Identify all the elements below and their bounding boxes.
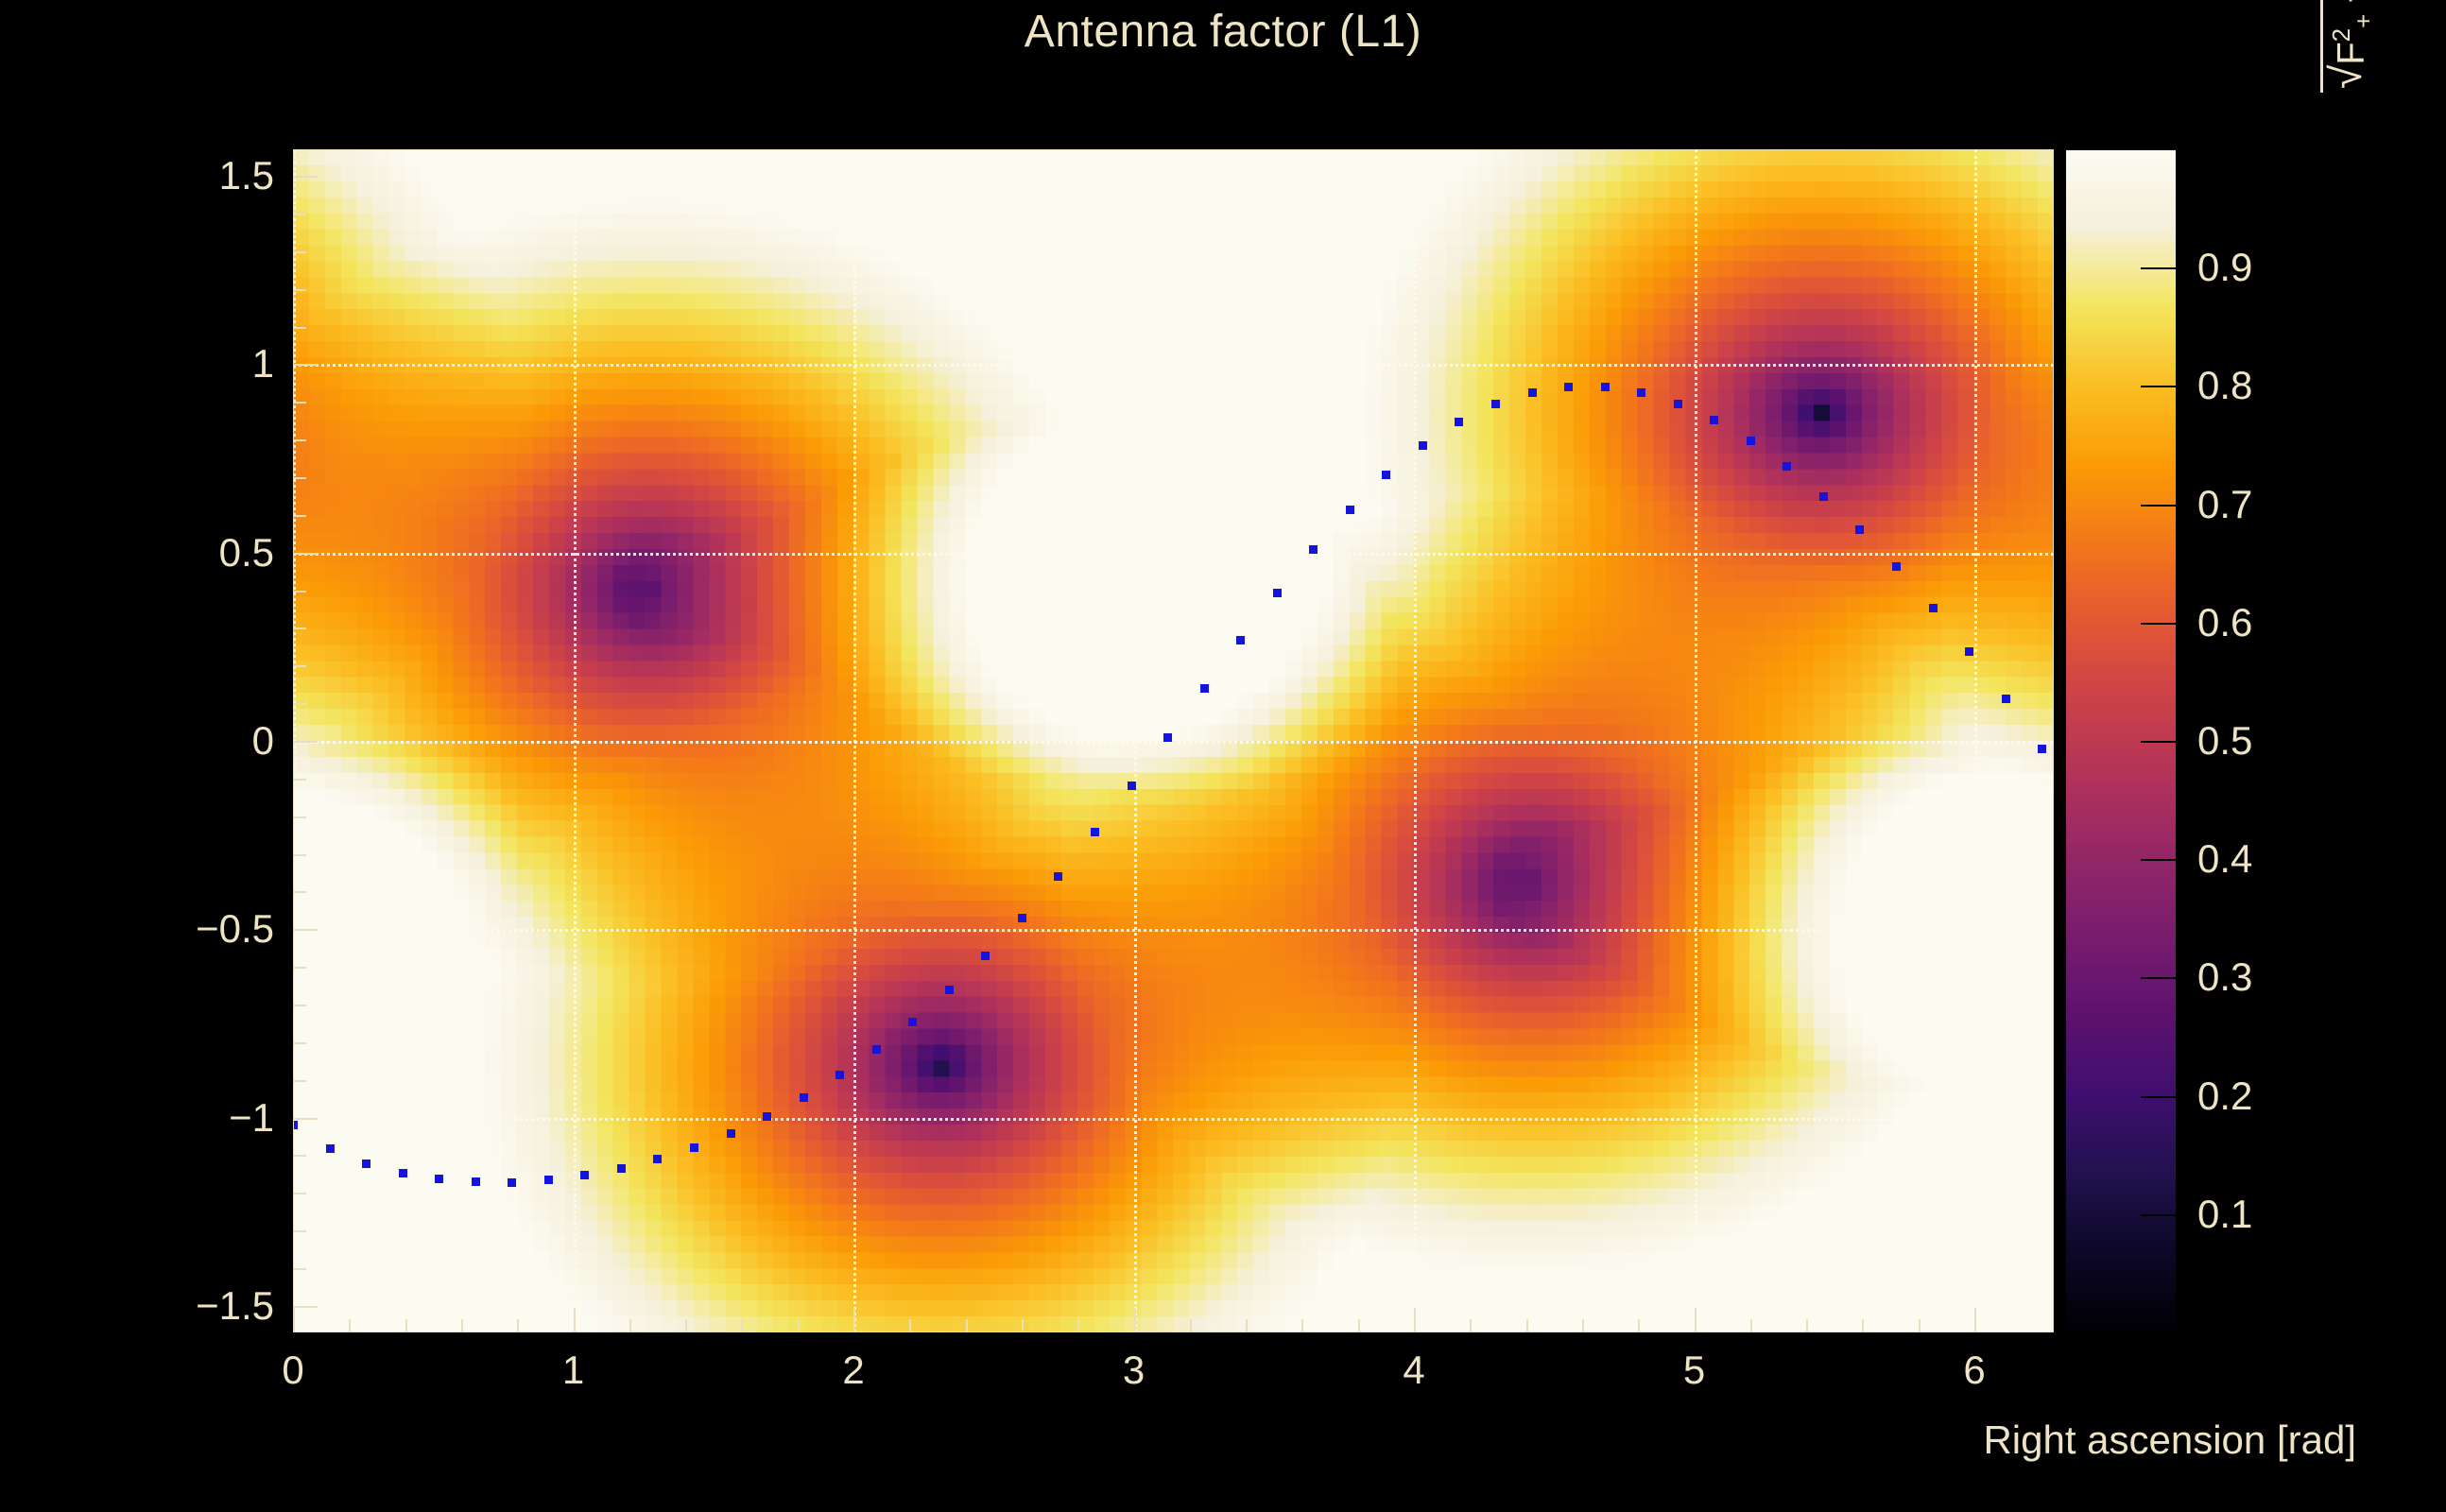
x-tick-6 <box>1974 1308 1976 1332</box>
x-minor-tick <box>1470 1319 1472 1332</box>
x-tick-label-4: 4 <box>1403 1348 1424 1393</box>
z-tick-8 <box>2141 1214 2177 1216</box>
page-title: Antenna factor (L1) <box>0 6 2446 58</box>
x-tick-label-3: 3 <box>1123 1348 1145 1393</box>
z-tick-4 <box>2141 741 2177 743</box>
y-minor-tick <box>293 1042 306 1044</box>
y-tick-3 <box>293 741 318 743</box>
y-minor-tick <box>293 251 306 253</box>
x-minor-tick <box>1919 1319 1921 1332</box>
radical-icon: √ <box>2329 65 2364 89</box>
x-minor-tick <box>1301 1319 1303 1332</box>
x-minor-tick <box>685 1319 687 1332</box>
y-minor-tick <box>293 891 306 893</box>
x-tick-label-6: 6 <box>1963 1348 1985 1393</box>
y-tick-label-0: 1.5 <box>170 153 274 198</box>
x-minor-tick <box>461 1319 463 1332</box>
x-minor-tick <box>1638 1319 1640 1332</box>
z-tick-5 <box>2141 859 2177 861</box>
x-minor-tick <box>1582 1319 1584 1332</box>
y-tick-5 <box>293 1118 318 1120</box>
x-tick-label-1: 1 <box>562 1348 584 1393</box>
colorbar-title: √F2+ + F2x <box>2320 0 2378 94</box>
x-minor-tick <box>517 1319 519 1332</box>
z-tick-6 <box>2141 977 2177 979</box>
y-minor-tick <box>293 779 306 781</box>
z-tick-label-3: 0.6 <box>2197 600 2252 645</box>
y-minor-tick <box>293 214 306 215</box>
y-minor-tick <box>293 1155 306 1157</box>
x-minor-tick <box>1526 1319 1528 1332</box>
x-axis-title: Right ascension [rad] <box>1983 1417 2356 1463</box>
y-minor-tick <box>293 402 306 404</box>
y-minor-tick <box>293 665 306 667</box>
x-tick-label-5: 5 <box>1683 1348 1705 1393</box>
y-tick-2 <box>293 553 318 555</box>
x-minor-tick <box>1862 1319 1864 1332</box>
x-minor-tick <box>1077 1319 1079 1332</box>
z-tick-label-4: 0.5 <box>2197 718 2252 764</box>
z-tick-label-5: 0.4 <box>2197 836 2252 882</box>
y-minor-tick <box>293 1080 306 1082</box>
x-minor-tick <box>1022 1319 1024 1332</box>
y-minor-tick <box>293 1268 306 1270</box>
y-tick-6 <box>293 1306 318 1308</box>
heatmap-image <box>293 149 2054 1332</box>
x-minor-tick <box>1750 1319 1752 1332</box>
y-minor-tick <box>293 515 306 517</box>
y-tick-label-6: −1.5 <box>170 1283 274 1329</box>
y-tick-0 <box>293 176 318 178</box>
z-tick-label-6: 0.3 <box>2197 954 2252 1000</box>
x-minor-tick <box>349 1319 351 1332</box>
x-minor-tick <box>405 1319 407 1332</box>
heatmap-plot-area[interactable] <box>293 149 2054 1332</box>
x-minor-tick <box>629 1319 631 1332</box>
plot-canvas: Antenna factor (L1) 0123456 1.510.50−0.5… <box>0 0 2446 1512</box>
z-tick-7 <box>2141 1096 2177 1098</box>
z-tick-label-8: 0.1 <box>2197 1192 2252 1237</box>
y-minor-tick <box>293 591 306 593</box>
x-minor-tick <box>741 1319 743 1332</box>
y-tick-label-3: 0 <box>170 718 274 764</box>
y-minor-tick <box>293 967 306 969</box>
y-tick-label-5: −1 <box>170 1095 274 1141</box>
y-tick-1 <box>293 364 318 366</box>
z-tick-0 <box>2141 267 2177 269</box>
x-minor-tick <box>909 1319 911 1332</box>
z-tick-3 <box>2141 623 2177 625</box>
y-minor-tick <box>293 289 306 291</box>
y-minor-tick <box>293 1193 306 1194</box>
x-minor-tick <box>1246 1319 1248 1332</box>
y-minor-tick <box>293 477 306 479</box>
x-tick-3 <box>1134 1308 1136 1332</box>
y-minor-tick <box>293 854 306 856</box>
y-tick-label-4: −0.5 <box>170 906 274 952</box>
y-tick-label-1: 1 <box>170 341 274 387</box>
x-minor-tick <box>1806 1319 1808 1332</box>
x-tick-label-2: 2 <box>842 1348 864 1393</box>
x-minor-tick <box>1358 1319 1360 1332</box>
y-minor-tick <box>293 327 306 329</box>
y-minor-tick <box>293 1005 306 1006</box>
x-tick-label-0: 0 <box>282 1348 303 1393</box>
z-tick-1 <box>2141 386 2177 387</box>
z-tick-2 <box>2141 505 2177 507</box>
y-minor-tick <box>293 816 306 818</box>
x-minor-tick <box>798 1319 800 1332</box>
y-minor-tick <box>293 703 306 705</box>
sqrt-expression: √F2+ + F2x <box>2320 0 2378 93</box>
x-tick-1 <box>574 1308 576 1332</box>
z-tick-label-0: 0.9 <box>2197 245 2252 290</box>
x-tick-0 <box>293 1308 295 1332</box>
x-minor-tick <box>966 1319 968 1332</box>
x-minor-tick <box>1190 1319 1192 1332</box>
z-tick-label-7: 0.2 <box>2197 1074 2252 1119</box>
z-tick-label-2: 0.7 <box>2197 482 2252 527</box>
y-tick-label-2: 0.5 <box>170 530 274 576</box>
y-tick-4 <box>293 929 318 931</box>
z-tick-label-1: 0.8 <box>2197 363 2252 408</box>
x-tick-4 <box>1414 1308 1416 1332</box>
y-minor-tick <box>293 1230 306 1232</box>
y-minor-tick <box>293 627 306 629</box>
y-minor-tick <box>293 439 306 441</box>
x-tick-2 <box>853 1308 855 1332</box>
x-tick-5 <box>1695 1308 1697 1332</box>
